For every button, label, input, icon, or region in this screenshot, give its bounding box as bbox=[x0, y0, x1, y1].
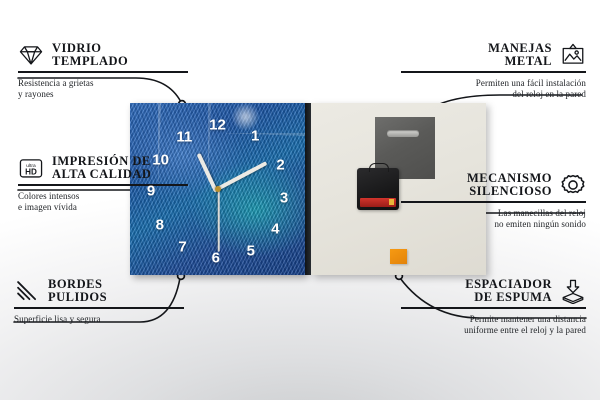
hanger-keyhole-slot bbox=[387, 130, 419, 137]
feature-bordes-pulidos: BORDES PULIDOS Superficie lisa y segura bbox=[14, 278, 184, 325]
feature-desc-line1: Las manecillas del reloj bbox=[401, 208, 586, 219]
clock-second-hand bbox=[218, 190, 220, 252]
feature-desc-line1: Permiten una fácil instalación bbox=[401, 78, 586, 89]
dial-number-1: 1 bbox=[251, 128, 259, 143]
dial-number-4: 4 bbox=[271, 221, 279, 236]
mechanism-hanger-loop bbox=[369, 163, 389, 172]
feature-title-line2: SILENCIOSO bbox=[467, 185, 552, 198]
feature-mecanismo-silencioso: MECANISMO SILENCIOSO Las manecillas del … bbox=[401, 172, 586, 230]
feature-rule bbox=[401, 201, 586, 203]
feature-desc-line2: del reloj en la pared bbox=[401, 89, 586, 100]
feature-title-line2: DE ESPUMA bbox=[465, 291, 552, 304]
feature-rule bbox=[401, 307, 586, 309]
feature-title-line2: METAL bbox=[488, 55, 552, 68]
clock-minute-hand bbox=[216, 161, 267, 191]
feature-desc-line1: Colores intensos bbox=[18, 191, 188, 202]
dial-number-9: 9 bbox=[147, 183, 155, 198]
hanging-frame-icon bbox=[560, 42, 586, 68]
feature-desc-line1: Resistencia a grietas bbox=[18, 78, 188, 89]
feature-desc-line1: Permite mantener una distancia bbox=[401, 314, 586, 325]
feature-manejas-metal: MANEJAS METAL Permiten una fácil instala… bbox=[401, 42, 586, 100]
diamond-icon bbox=[18, 42, 44, 68]
feature-vidrio-templado: VIDRIO TEMPLADO Resistencia a grietas y … bbox=[18, 42, 188, 100]
foam-spacer-icon bbox=[560, 278, 586, 304]
clock-center-hub bbox=[215, 186, 221, 192]
dial-number-3: 3 bbox=[280, 190, 288, 205]
dial-number-12: 12 bbox=[209, 118, 226, 133]
feature-rule bbox=[18, 184, 188, 186]
dial-number-10: 10 bbox=[152, 152, 169, 167]
feature-title-line2: PULIDOS bbox=[48, 291, 107, 304]
dial-number-8: 8 bbox=[156, 218, 164, 233]
feature-desc-line2: no emiten ningún sonido bbox=[401, 219, 586, 230]
feature-title-line2: ALTA CALIDAD bbox=[52, 168, 151, 181]
feature-espaciador-espuma: ESPACIADOR DE ESPUMA Permite mantener un… bbox=[401, 278, 586, 336]
clock-battery bbox=[360, 198, 396, 207]
feature-desc-line2: e imagen vívida bbox=[18, 202, 188, 213]
feature-title-line2: TEMPLADO bbox=[52, 55, 128, 68]
dial-number-11: 11 bbox=[176, 130, 192, 145]
svg-text:HD: HD bbox=[25, 168, 37, 177]
dial-number-6: 6 bbox=[212, 250, 220, 265]
feature-rule bbox=[18, 71, 188, 73]
foam-spacer-pad bbox=[390, 249, 407, 264]
gear-icon bbox=[560, 172, 586, 198]
feature-rule bbox=[14, 307, 184, 309]
dial-number-2: 2 bbox=[276, 157, 284, 172]
clock-mechanism-box bbox=[357, 168, 399, 210]
feature-rule bbox=[401, 71, 586, 73]
feature-desc-line2: y rayones bbox=[18, 89, 188, 100]
ultra-hd-icon: ultra HD bbox=[18, 155, 44, 181]
clock-hour-hand bbox=[196, 153, 217, 193]
battery-terminal bbox=[389, 199, 394, 205]
feature-desc-line1: Superficie lisa y segura bbox=[14, 314, 184, 325]
feature-desc-line2: uniforme entre el reloj y la pared bbox=[401, 325, 586, 336]
dial-number-7: 7 bbox=[178, 240, 186, 255]
infographic-canvas: 12 1 2 3 4 5 6 7 8 9 10 11 bbox=[0, 0, 600, 400]
dial-number-5: 5 bbox=[247, 243, 255, 258]
polished-edges-icon bbox=[14, 278, 40, 304]
